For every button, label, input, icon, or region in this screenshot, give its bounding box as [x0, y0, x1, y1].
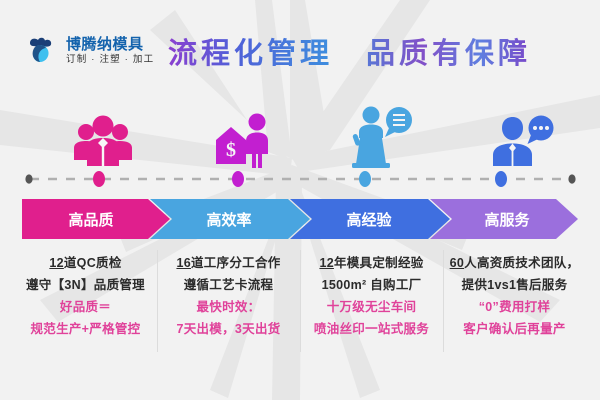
detail-line: 喷油丝印一站式服务	[304, 318, 439, 340]
page-title: 流程化管理 品质有保障	[168, 30, 531, 72]
process-timeline	[0, 168, 600, 190]
banner-label-quality: 高品质	[68, 211, 113, 229]
banner-label-efficiency: 高效率	[206, 211, 251, 229]
house-money-person-icon: $	[168, 98, 318, 170]
detail-line: 7天出模，3天出货	[161, 318, 296, 340]
detail-column-quality: 12道QC质检 遵守【3N】品质管理 好品质＝ 规范生产+严格管控	[14, 252, 157, 362]
brand-logo-text: 博腾纳模具 订制 · 注塑 · 加工	[66, 37, 154, 65]
detail-line: 60人高资质技术团队，	[447, 252, 582, 274]
detail-line: 规范生产+严格管控	[18, 318, 153, 340]
promo-poster: 博腾纳模具 订制 · 注塑 · 加工 流程化管理 品质有保障	[0, 0, 600, 400]
feature-icon-row: $	[0, 98, 600, 170]
timeline-dot-experience	[359, 171, 371, 187]
chevron-banner: 高品质 高效率 高经验 高服务	[22, 199, 578, 239]
detail-line: 12年模具定制经验	[304, 252, 439, 274]
team-group-icon	[28, 98, 178, 170]
detail-line: 遵循工艺卡流程	[161, 274, 296, 296]
detail-line: 1500m² 自购工厂	[304, 274, 439, 296]
detail-line: “0”费用打样	[447, 296, 582, 318]
detail-column-service: 60人高资质技术团队， 提供1vs1售后服务 “0”费用打样 客户确认后再量产	[443, 252, 586, 362]
timeline-dot-service	[495, 171, 507, 187]
poster-header: 博腾纳模具 订制 · 注塑 · 加工 流程化管理 品质有保障	[0, 32, 600, 90]
detail-line: 十万级无尘车间	[304, 296, 439, 318]
timeline-end-dot	[568, 174, 575, 183]
brand-logo[interactable]: 博腾纳模具 订制 · 注塑 · 加工	[26, 34, 154, 68]
botengna-logo-icon	[26, 34, 60, 68]
timeline-start-dot	[25, 174, 32, 183]
banner-label-service: 高服务	[484, 211, 530, 229]
detail-line: 16道工序分工合作	[161, 252, 296, 274]
detail-column-efficiency: 16道工序分工合作 遵循工艺卡流程 最快时效： 7天出模，3天出货	[157, 252, 300, 362]
detail-line: 好品质＝	[18, 296, 153, 318]
svg-text:$: $	[226, 139, 236, 161]
detail-line: 12道QC质检	[18, 252, 153, 274]
detail-line: 提供1vs1售后服务	[447, 274, 582, 296]
detail-line: 客户确认后再量产	[447, 318, 582, 340]
company-name: 博腾纳模具	[66, 37, 154, 52]
company-tagline: 订制 · 注塑 · 加工	[66, 55, 154, 65]
support-chat-icon	[446, 98, 596, 170]
timeline-dot-efficiency	[232, 171, 244, 187]
detail-line: 最快时效：	[161, 296, 296, 318]
banner-label-experience: 高经验	[346, 211, 392, 229]
detail-line: 遵守【3N】品质管理	[18, 274, 153, 296]
detail-column-experience: 12年模具定制经验 1500m² 自购工厂 十万级无尘车间 喷油丝印一站式服务	[300, 252, 443, 362]
detail-columns: 12道QC质检 遵守【3N】品质管理 好品质＝ 规范生产+严格管控 16道工序分…	[14, 252, 586, 362]
timeline-dot-quality	[93, 171, 105, 187]
speaker-podium-icon	[306, 98, 456, 170]
